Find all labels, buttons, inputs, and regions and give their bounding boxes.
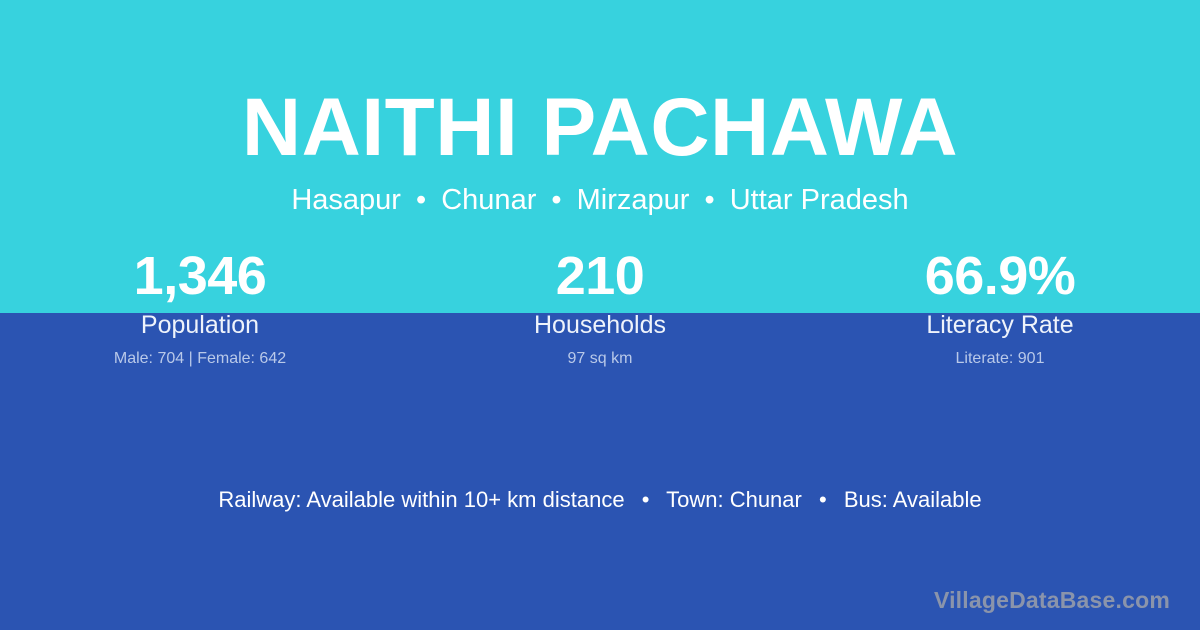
breadcrumb-separator-icon: • bbox=[544, 182, 568, 218]
stat-sublabel: Male: 704 | Female: 642 bbox=[0, 349, 400, 369]
breadcrumb-separator-icon: • bbox=[698, 182, 722, 218]
breadcrumb-separator-icon: • bbox=[409, 182, 433, 218]
stat-sublabel: 97 sq km bbox=[400, 349, 800, 369]
stat-label: Households bbox=[400, 310, 800, 340]
stat-households: 210 Households 97 sq km bbox=[400, 244, 800, 369]
amenity-bus: Bus: Available bbox=[844, 487, 982, 512]
breadcrumb-item-tehsil: Chunar bbox=[441, 184, 536, 216]
village-info-card: NAITHI PACHAWA Hasapur • Chunar • Mirzap… bbox=[0, 0, 1200, 630]
amenity-railway: Railway: Available within 10+ km distanc… bbox=[218, 487, 624, 512]
stat-sublabel: Literate: 901 bbox=[800, 349, 1200, 369]
breadcrumb-item-district: Mirzapur bbox=[577, 184, 690, 216]
stat-value: 1,346 bbox=[0, 244, 400, 308]
stat-value: 66.9% bbox=[800, 244, 1200, 308]
stat-value: 210 bbox=[400, 244, 800, 308]
breadcrumb: Hasapur • Chunar • Mirzapur • Uttar Prad… bbox=[0, 182, 1200, 218]
amenities-line: Railway: Available within 10+ km distanc… bbox=[0, 486, 1200, 514]
stat-literacy-rate: 66.9% Literacy Rate Literate: 901 bbox=[800, 244, 1200, 369]
breadcrumb-item-block: Hasapur bbox=[291, 184, 401, 216]
stats-row: 1,346 Population Male: 704 | Female: 642… bbox=[0, 244, 1200, 369]
breadcrumb-item-state: Uttar Pradesh bbox=[730, 184, 909, 216]
amenity-town: Town: Chunar bbox=[666, 487, 802, 512]
page-title: NAITHI PACHAWA bbox=[0, 82, 1200, 174]
brand-watermark: VillageDataBase.com bbox=[934, 586, 1170, 614]
amenity-separator-icon: • bbox=[631, 486, 661, 514]
amenity-separator-icon: • bbox=[808, 486, 838, 514]
stat-population: 1,346 Population Male: 704 | Female: 642 bbox=[0, 244, 400, 369]
stat-label: Population bbox=[0, 310, 400, 340]
stat-label: Literacy Rate bbox=[800, 310, 1200, 340]
